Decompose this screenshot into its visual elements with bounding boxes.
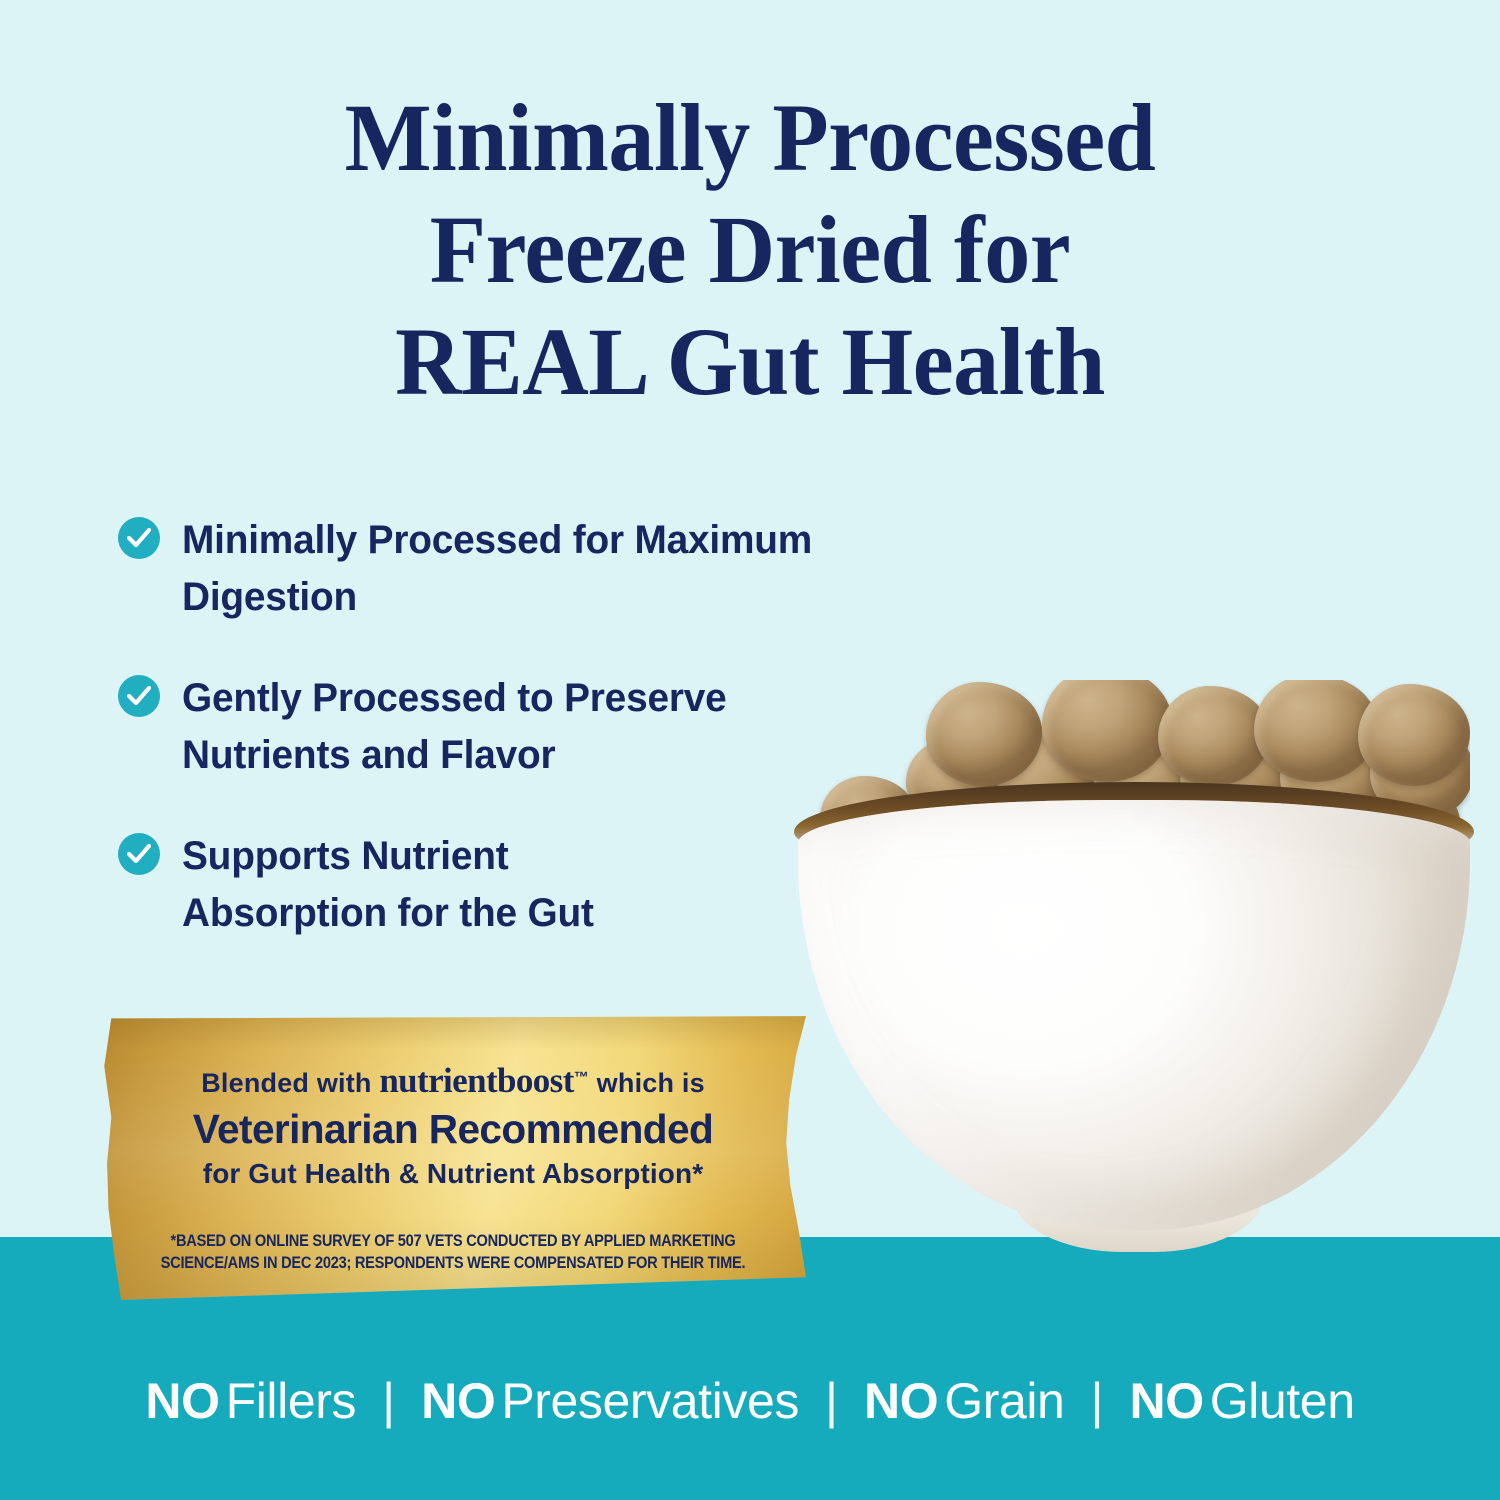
check-circle-icon [118,833,160,875]
headline-line-2: Freeze Dried for [30,194,1470,306]
benefit-item: Supports Nutrient Absorption for the Gut [118,828,878,942]
veterinarian-recommended-badge: Blended with nutrientboost™ which is Vet… [100,1015,806,1300]
trademark-symbol: ™ [574,1069,589,1086]
benefit-item: Gently Processed to Preserve Nutrients a… [118,670,878,784]
claim-rest: Preservatives [501,1373,799,1429]
headline: Minimally Processed Freeze Dried for REA… [30,82,1470,418]
product-marketing-image: Minimally Processed Freeze Dried for REA… [0,0,1500,1500]
benefit-list: Minimally Processed for Maximum Digestio… [118,512,878,986]
benefit-label: Minimally Processed for Maximum Digestio… [182,512,857,626]
check-circle-icon [118,517,160,559]
badge-line-2: Veterinarian Recommended [104,1106,803,1153]
claim-separator: | [1090,1372,1103,1430]
badge-fineprint-line-1: *BASED ON ONLINE SURVEY OF 507 VETS COND… [149,1230,756,1252]
claim-separator: | [382,1372,395,1430]
claim-strong: NO [864,1373,938,1429]
claim-rest: Gluten [1210,1373,1355,1429]
claim-strong: NO [145,1373,219,1429]
claim-separator: | [825,1372,838,1430]
badge-line-3: for Gut Health & Nutrient Absorption* [100,1158,806,1190]
claim-rest: Grain [944,1373,1064,1429]
claim-preservatives: NOPreservatives [421,1372,799,1430]
claim-fillers: NOFillers [145,1372,356,1430]
badge-fineprint: *BASED ON ONLINE SURVEY OF 507 VETS COND… [149,1230,756,1274]
badge-fineprint-line-2: SCIENCE/AMS IN DEC 2023; RESPONDENTS WER… [149,1252,756,1274]
headline-line-3: REAL Gut Health [30,306,1470,418]
badge-content: Blended with nutrientboost™ which is Vet… [100,1015,806,1274]
claim-rest: Fillers [226,1373,357,1429]
check-circle-icon [118,675,160,717]
bowl-body [798,800,1470,1230]
claim-strong: NO [1129,1373,1203,1429]
benefit-label: Supports Nutrient Absorption for the Gut [182,828,594,942]
claim-gluten: NOGluten [1129,1372,1354,1430]
claim-strong: NO [421,1373,495,1429]
benefit-item: Minimally Processed for Maximum Digestio… [118,512,878,626]
nutrientboost-wordmark: nutrientboost [379,1061,573,1100]
badge-line-1: Blended with nutrientboost™ which is [100,1061,806,1101]
claim-grain: NOGrain [864,1372,1064,1430]
no-claims-bar: NOFillers | NOPreservatives | NOGrain | … [0,1372,1500,1430]
badge-line-1-suffix: which is [597,1068,705,1098]
product-photo-bowl-of-kibble [780,640,1500,1300]
headline-line-1: Minimally Processed [30,82,1470,194]
benefit-label: Gently Processed to Preserve Nutrients a… [182,670,727,784]
badge-line-1-prefix: Blended with [201,1068,371,1098]
